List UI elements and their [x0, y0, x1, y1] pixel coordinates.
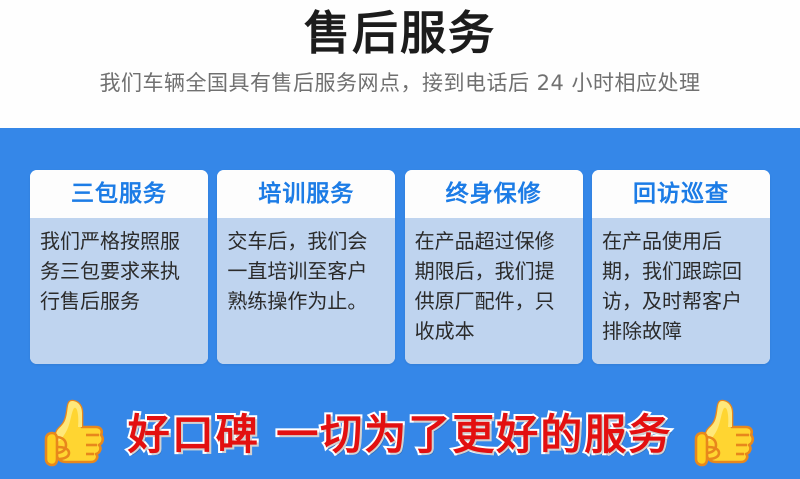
- service-card-header: 培训服务: [217, 170, 395, 218]
- blue-content-area: 三包服务 我们严格按照服务三包要求来执行售后服务 培训服务 交车后，我们会一直培…: [0, 128, 800, 479]
- service-card-body: 交车后，我们会一直培训至客户熟练操作为止。: [217, 218, 395, 364]
- thumbs-up-icon: [694, 397, 756, 473]
- service-card-sanbao[interactable]: 三包服务 我们严格按照服务三包要求来执行售后服务: [30, 170, 208, 364]
- service-card-title: 培训服务: [258, 182, 354, 207]
- service-card-followup-inspection[interactable]: 回访巡查 在产品使用后期，我们跟踪回访，及时帮客户排除故障: [592, 170, 770, 364]
- service-card-body: 在产品超过保修期限后，我们提供原厂配件，只收成本: [405, 218, 583, 364]
- service-card-header: 回访巡查: [592, 170, 770, 218]
- service-card-text: 我们严格按照服务三包要求来执行售后服务: [40, 226, 198, 316]
- service-cards-row: 三包服务 我们严格按照服务三包要求来执行售后服务 培训服务 交车后，我们会一直培…: [30, 170, 770, 364]
- page-title: 售后服务: [0, 0, 800, 62]
- service-card-title: 回访巡查: [633, 182, 729, 207]
- service-card-header: 三包服务: [30, 170, 208, 218]
- service-card-text: 交车后，我们会一直培训至客户熟练操作为止。: [227, 226, 385, 316]
- service-card-training[interactable]: 培训服务 交车后，我们会一直培训至客户熟练操作为止。: [217, 170, 395, 364]
- service-card-header: 终身保修: [405, 170, 583, 218]
- service-card-title: 三包服务: [71, 182, 167, 207]
- page-header: 售后服务 我们车辆全国具有售后服务网点，接到电话后 24 小时相应处理: [0, 0, 800, 128]
- service-card-text: 在产品超过保修期限后，我们提供原厂配件，只收成本: [415, 226, 573, 346]
- thumbs-up-icon: [44, 397, 106, 473]
- service-card-text: 在产品使用后期，我们跟踪回访，及时帮客户排除故障: [602, 226, 760, 346]
- service-card-lifetime-warranty[interactable]: 终身保修 在产品超过保修期限后，我们提供原厂配件，只收成本: [405, 170, 583, 364]
- service-card-body: 在产品使用后期，我们跟踪回访，及时帮客户排除故障: [592, 218, 770, 364]
- service-card-title: 终身保修: [446, 182, 542, 207]
- page-subtitle: 我们车辆全国具有售后服务网点，接到电话后 24 小时相应处理: [0, 62, 800, 98]
- slogan-banner: 好口碑 一切为了更好的服务: [0, 390, 800, 479]
- promo-page: 售后服务 我们车辆全国具有售后服务网点，接到电话后 24 小时相应处理 三包服务…: [0, 0, 800, 479]
- service-card-body: 我们严格按照服务三包要求来执行售后服务: [30, 218, 208, 364]
- slogan-text: 好口碑 一切为了更好的服务: [128, 409, 673, 461]
